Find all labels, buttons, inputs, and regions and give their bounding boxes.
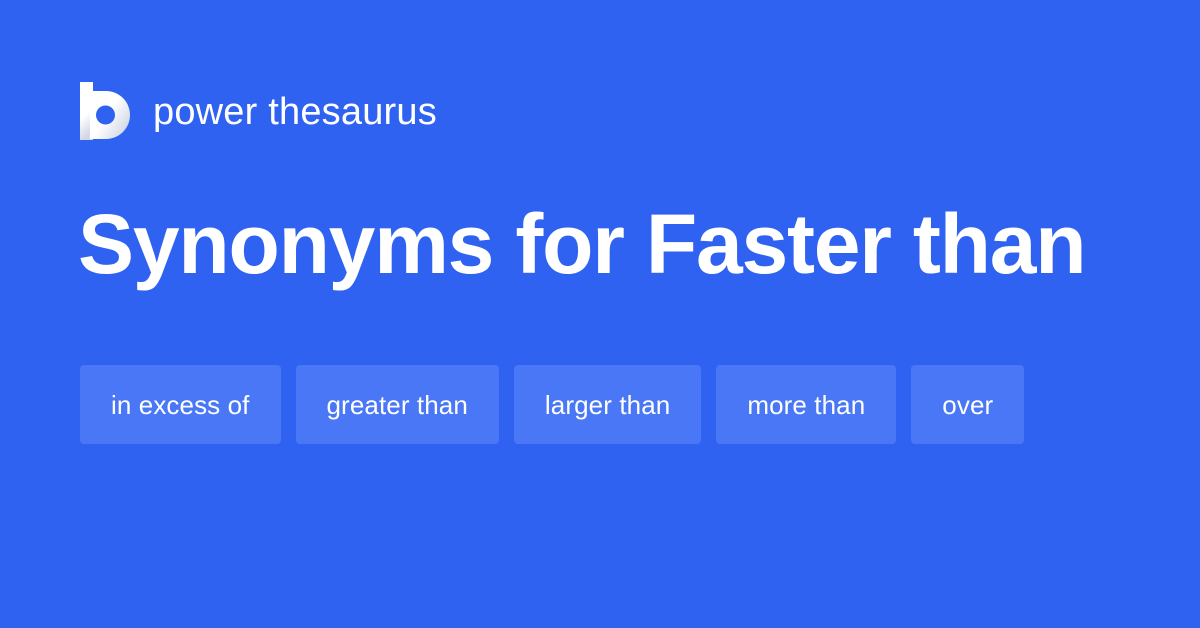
synonym-chip[interactable]: over [911,365,1024,444]
synonym-chip[interactable]: greater than [296,365,499,444]
brand-name: power thesaurus [153,93,437,131]
synonym-chip[interactable]: in excess of [80,365,281,444]
social-card: power thesaurus Synonyms for Faster than… [0,0,1200,628]
page-title: Synonyms for Faster than [78,196,1085,292]
power-thesaurus-logo-icon [80,82,132,140]
synonym-chip-list: in excess of greater than larger than mo… [80,365,1120,444]
synonym-chip[interactable]: more than [716,365,896,444]
brand-logo[interactable]: power thesaurus [80,80,437,142]
synonym-chip[interactable]: larger than [514,365,701,444]
